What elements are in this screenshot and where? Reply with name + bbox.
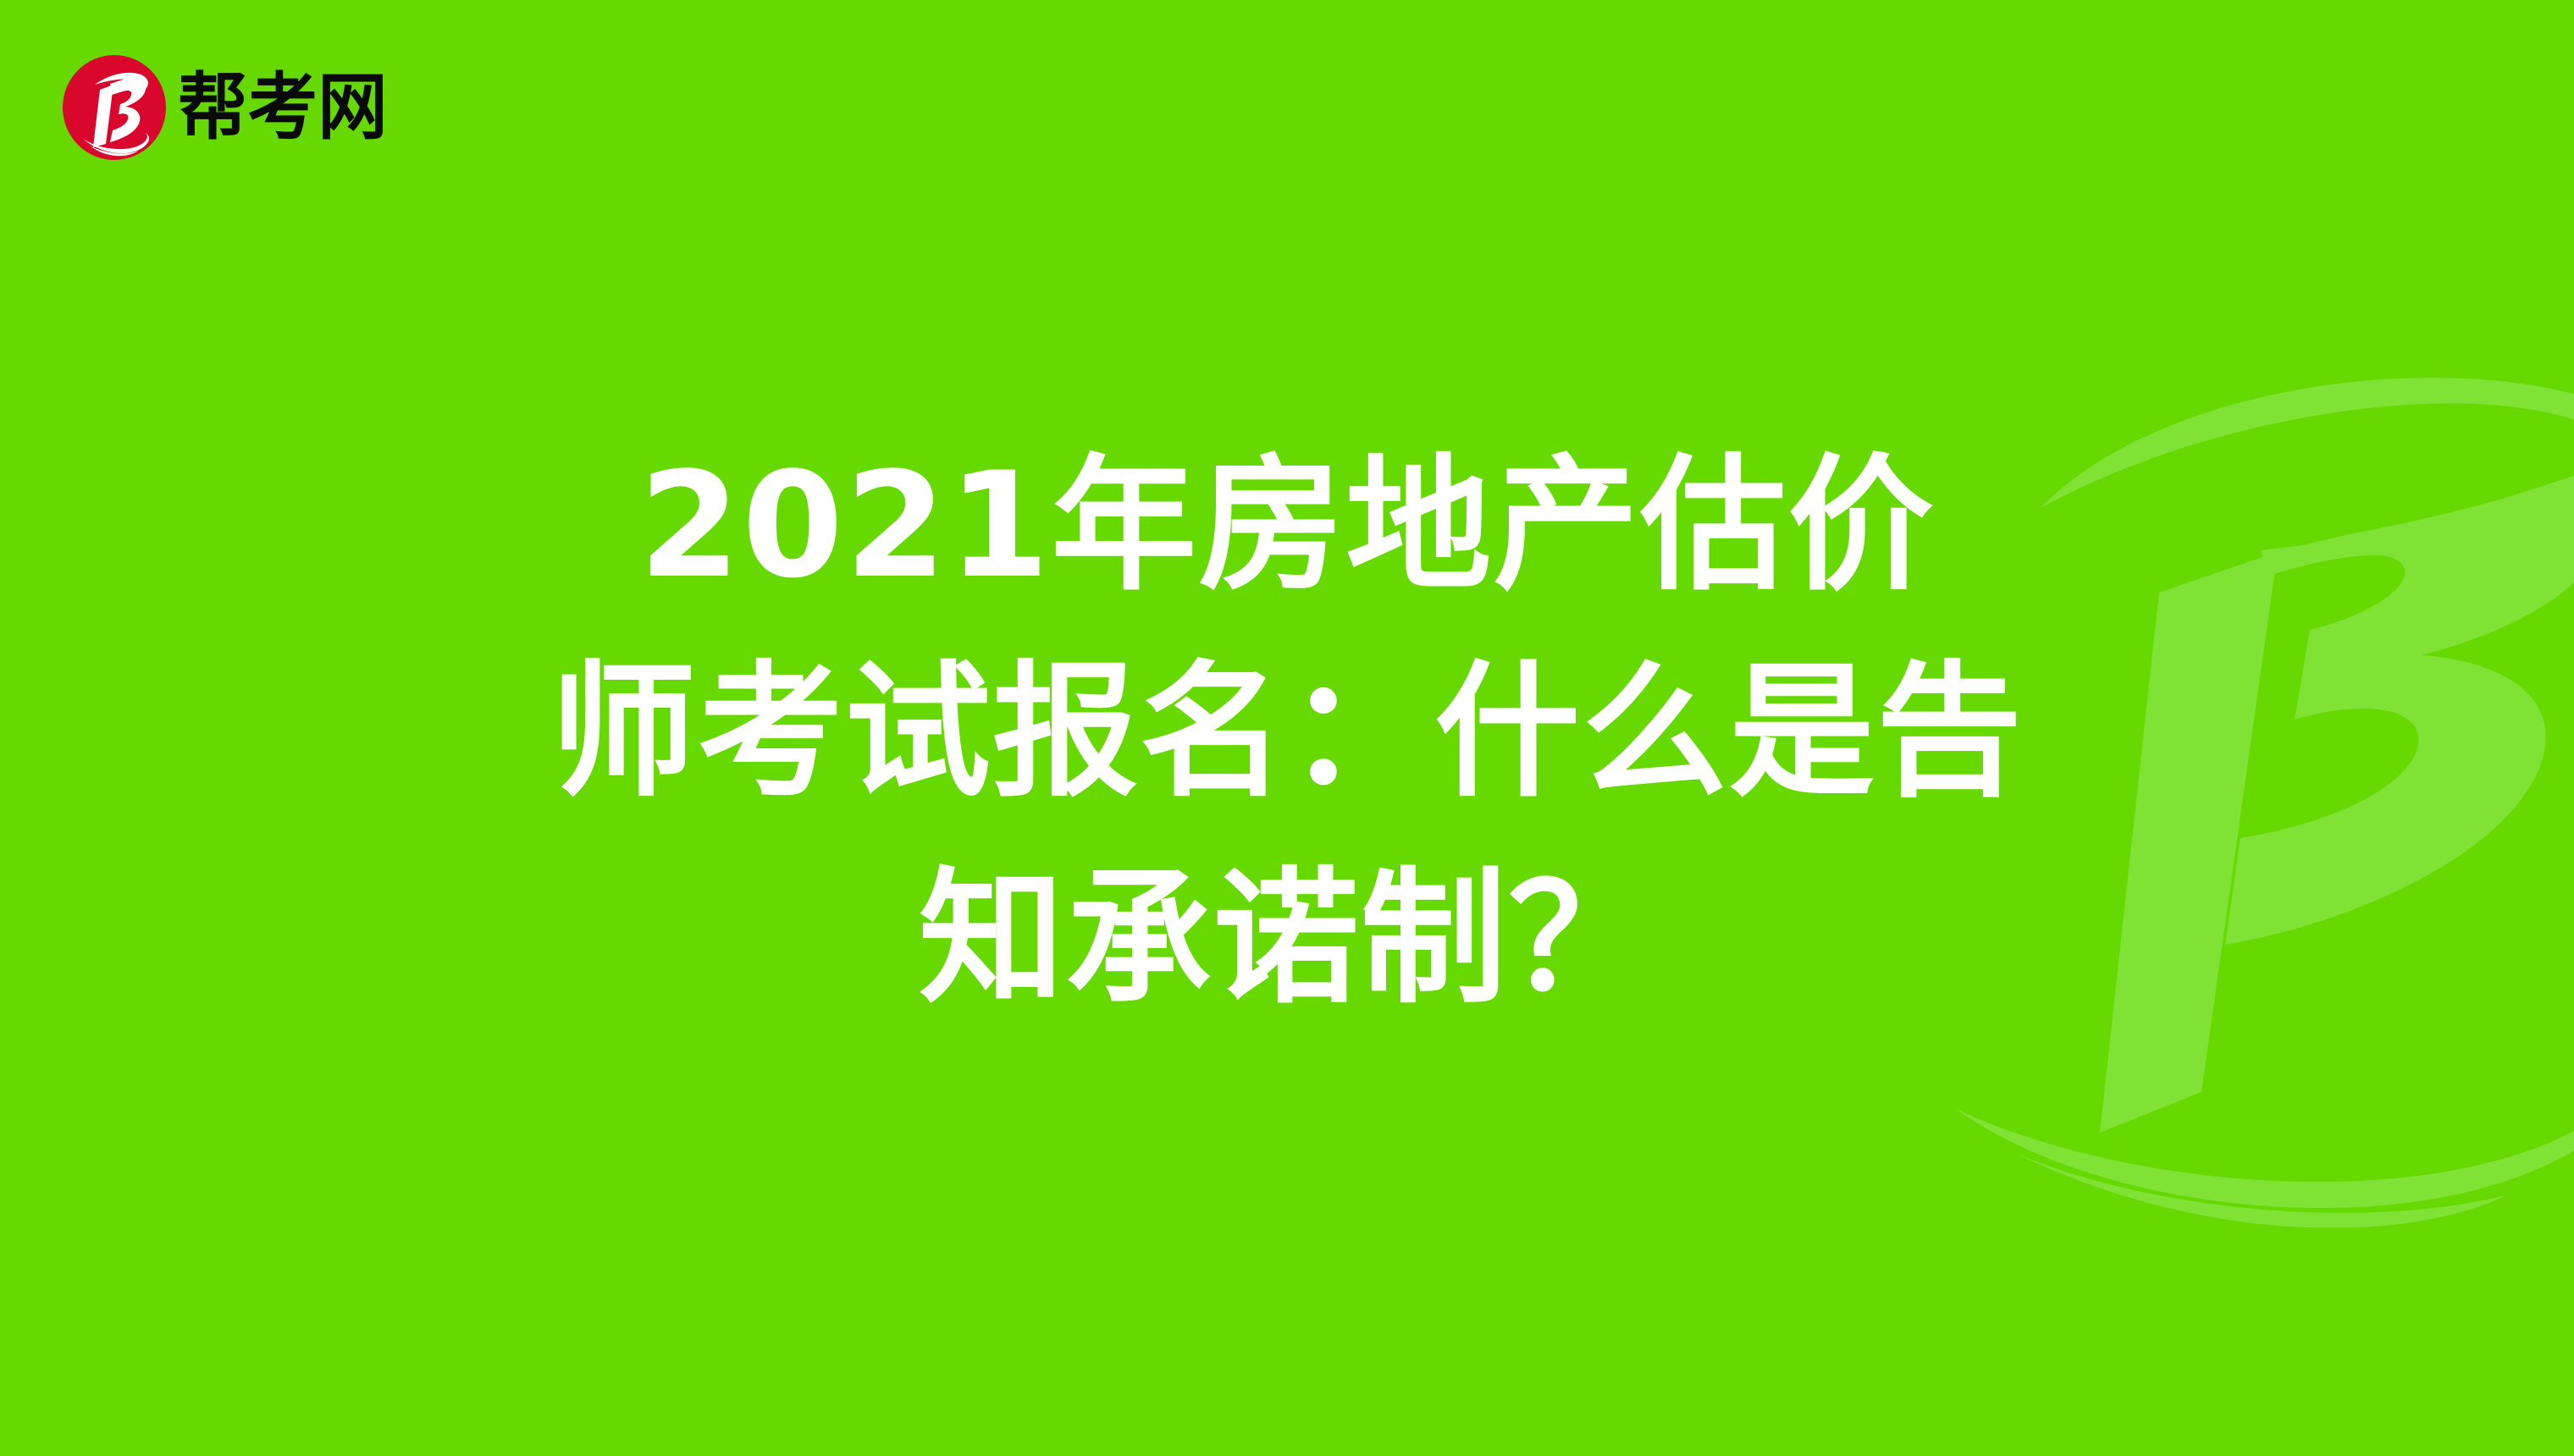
promo-banner: 帮考网 2021年房地产估价 师考试报名：什么是告 知承诺制？ bbox=[0, 0, 2574, 1456]
site-logo[interactable]: 帮考网 bbox=[61, 52, 396, 163]
bangkao-b-logo-icon bbox=[61, 52, 168, 163]
headline-block: 2021年房地产估价 师考试报名：什么是告 知承诺制？ bbox=[0, 0, 2574, 1456]
headline-line-3: 知承诺制？ bbox=[500, 836, 2074, 1042]
headline-line-1: 2021年房地产估价 bbox=[500, 422, 2074, 629]
headline-line-2: 师考试报名：什么是告 bbox=[500, 629, 2074, 836]
bangkao-b-watermark-icon bbox=[1761, 254, 2574, 1227]
site-logo-text: 帮考网 bbox=[178, 71, 388, 144]
